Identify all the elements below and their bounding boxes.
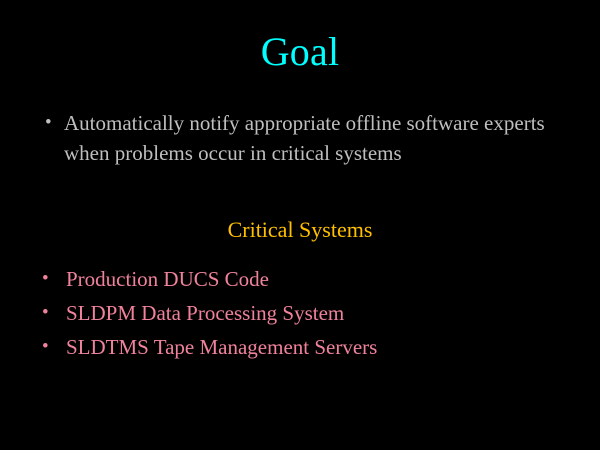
list-item: • Production DUCS Code [38,264,578,298]
section-heading: Critical Systems [0,216,600,244]
main-bullet-text: Automatically notify appropriate offline… [64,108,568,168]
bullet-marker-icon: • [38,298,66,328]
bullet-marker-icon: • [38,332,66,362]
critical-systems-list: • Production DUCS Code • SLDPM Data Proc… [38,264,578,366]
bullet-marker-icon: • [38,264,66,294]
list-item: • SLDPM Data Processing System [38,298,578,332]
system-item-label: SLDTMS Tape Management Servers [66,332,578,362]
list-item: • SLDTMS Tape Management Servers [38,332,578,366]
system-item-label: SLDPM Data Processing System [66,298,578,328]
presentation-slide: Goal • Automatically notify appropriate … [0,0,600,450]
page-title: Goal [0,28,600,76]
main-bullet-list: • Automatically notify appropriate offli… [38,108,568,168]
bullet-marker-icon: • [38,108,64,138]
list-item: • Automatically notify appropriate offli… [38,108,568,168]
system-item-label: Production DUCS Code [66,264,578,294]
